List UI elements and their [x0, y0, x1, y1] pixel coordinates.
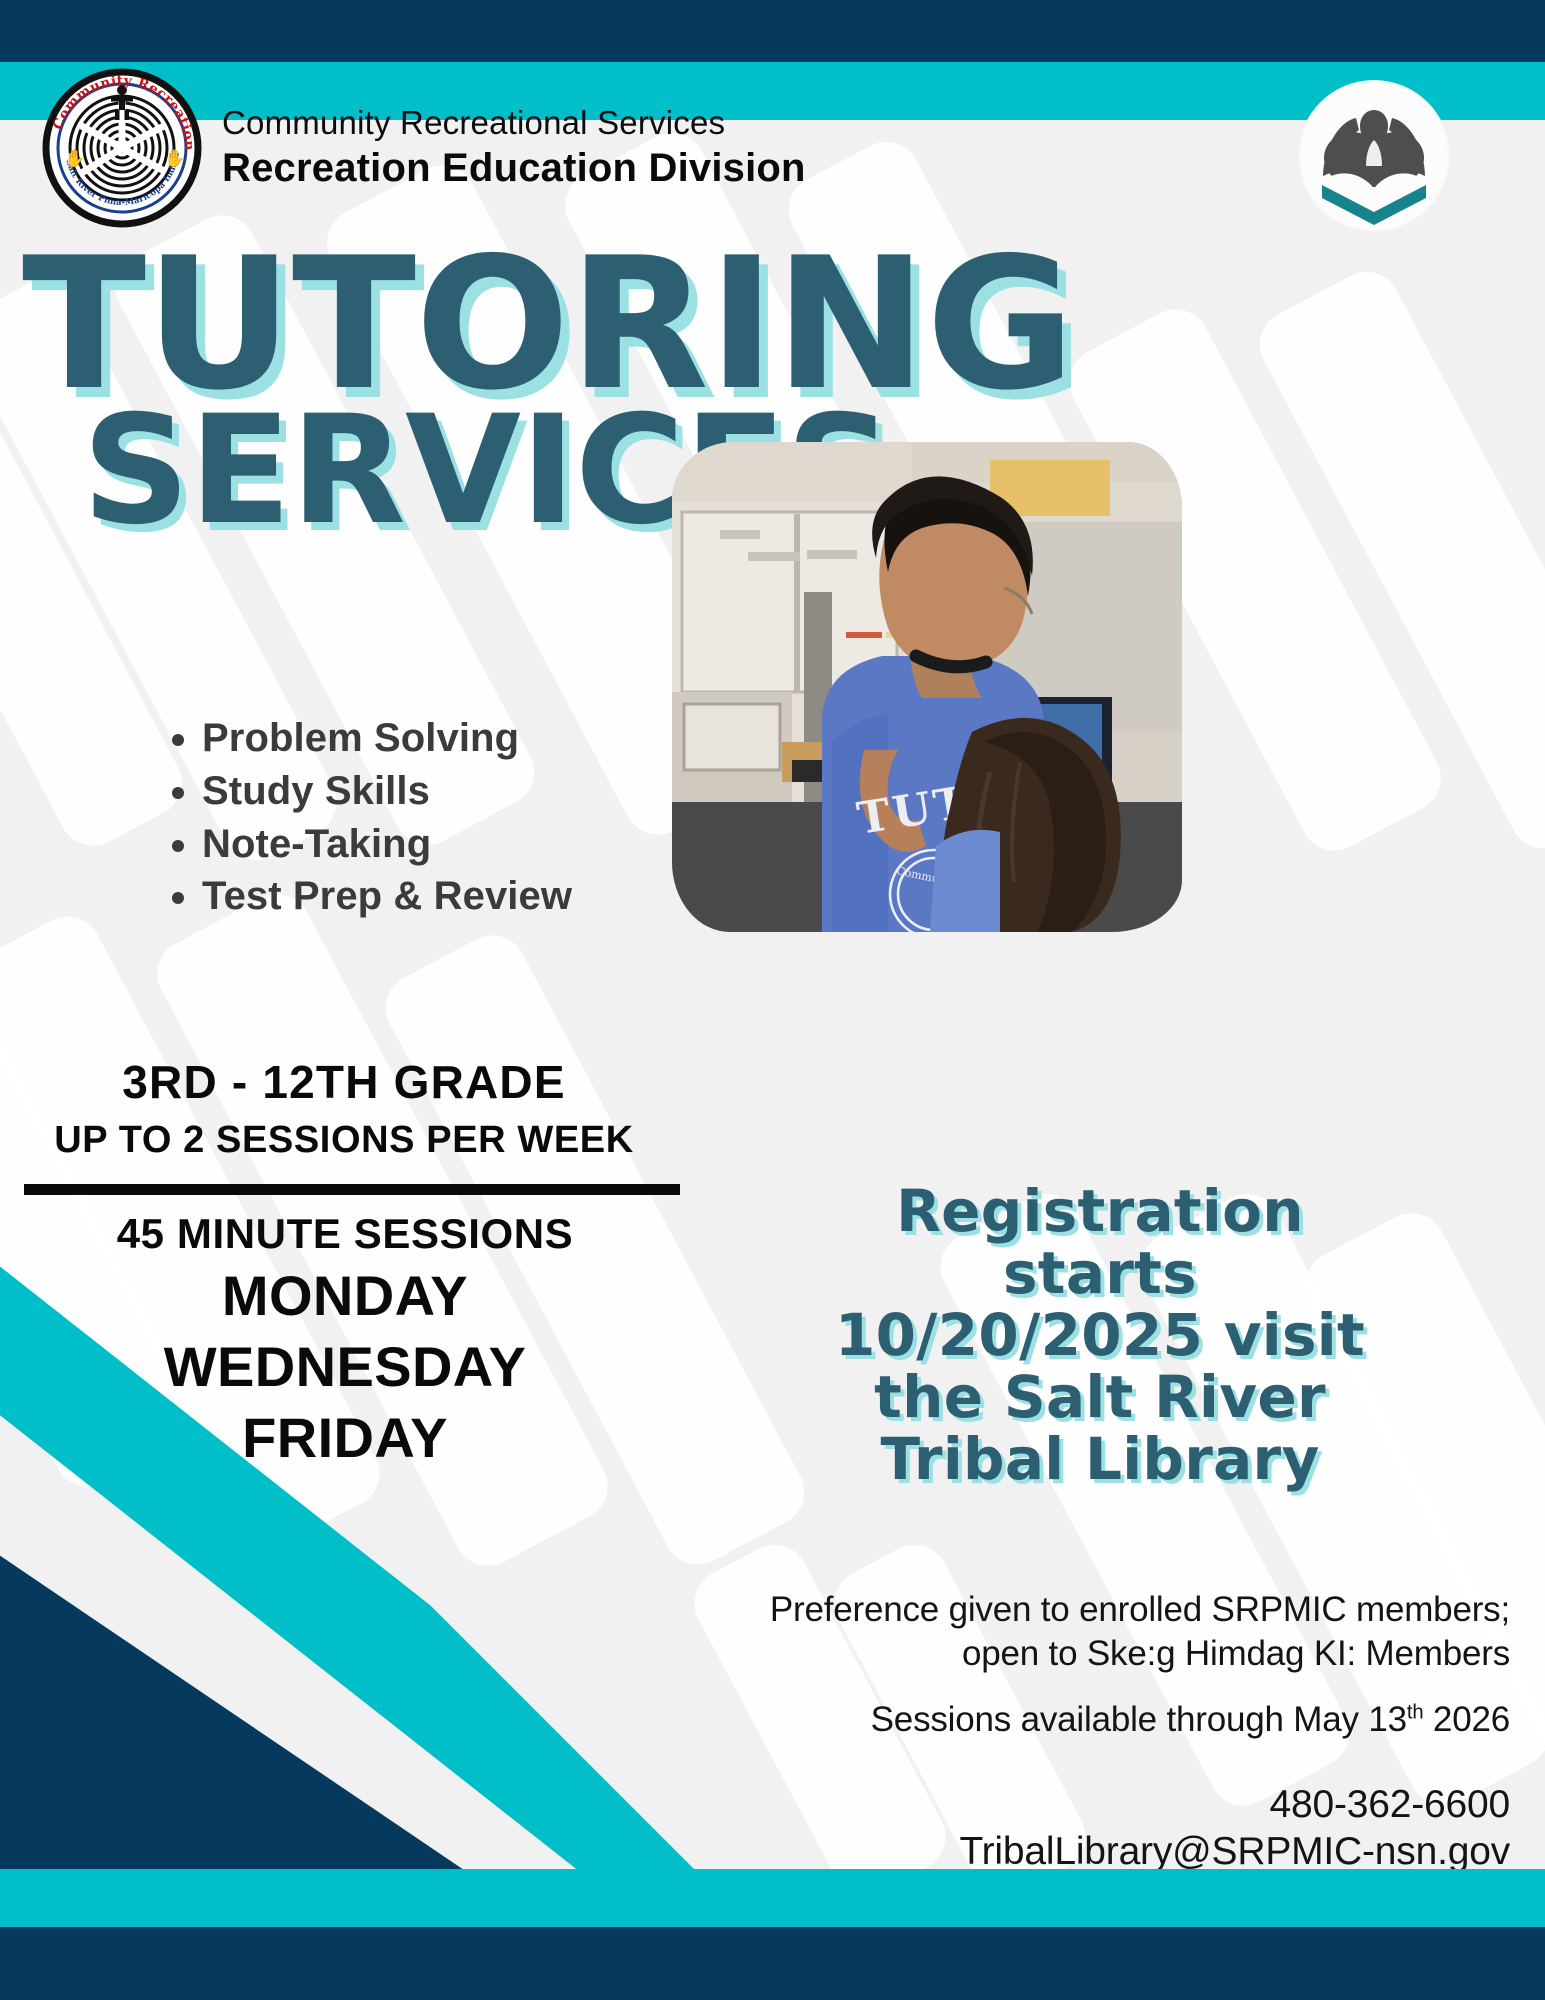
svg-text:✋: ✋ — [164, 148, 185, 168]
tribal-library-readers-book-icon — [1300, 82, 1448, 230]
list-item: Problem Solving — [202, 712, 572, 765]
availability-suffix: 2026 — [1423, 1700, 1510, 1739]
flyer-page: Community Recreational Services Salt Riv… — [0, 0, 1545, 2000]
availability-ordinal: th — [1407, 1702, 1424, 1724]
bottom-cyan-bar — [0, 1869, 1545, 1927]
contact-phone[interactable]: 480-362-6600 — [330, 1782, 1510, 1829]
registration-line: the Salt River — [700, 1366, 1500, 1428]
registration-line: starts — [700, 1242, 1500, 1304]
bottom-navy-bar — [0, 1927, 1545, 2000]
division-name: Recreation Education Division — [222, 146, 806, 191]
preference-note-line1: Preference given to enrolled SRPMIC memb… — [330, 1588, 1510, 1632]
list-item: Test Prep & Review — [202, 870, 572, 923]
session-frequency: UP TO 2 SESSIONS PER WEEK — [0, 1119, 688, 1162]
eligibility-block: 3RD - 12TH GRADE UP TO 2 SESSIONS PER WE… — [0, 1055, 688, 1162]
registration-line: Registration — [700, 1180, 1500, 1242]
crs-maze-seal-icon: Community Recreational Services Salt Riv… — [42, 68, 202, 228]
registration-line: Tribal Library — [700, 1428, 1500, 1490]
availability-prefix: Sessions available through May 13 — [871, 1700, 1407, 1739]
services-list: Problem Solving Study Skills Note-Taking… — [160, 712, 572, 923]
top-navy-bar — [0, 0, 1545, 62]
grade-range: 3RD - 12TH GRADE — [0, 1055, 688, 1109]
preference-note-line2: open to Ske:g Himdag KI: Members — [330, 1632, 1510, 1676]
title-line-tutoring: TUTORING — [22, 246, 1022, 403]
tutoring-photo: TUTOR Community Recreational — [672, 442, 1182, 932]
org-name: Community Recreational Services — [222, 104, 806, 142]
list-item: Study Skills — [202, 765, 572, 818]
list-item: Note-Taking — [202, 818, 572, 871]
registration-block: Registration starts 10/20/2025 visit the… — [700, 1180, 1500, 1490]
registration-line: 10/20/2025 visit — [700, 1304, 1500, 1366]
fine-print-block: Preference given to enrolled SRPMIC memb… — [330, 1588, 1510, 1876]
header-text: Community Recreational Services Recreati… — [222, 104, 806, 191]
svg-text:✋: ✋ — [64, 148, 85, 168]
availability-note: Sessions available through May 13th 2026 — [330, 1700, 1510, 1740]
